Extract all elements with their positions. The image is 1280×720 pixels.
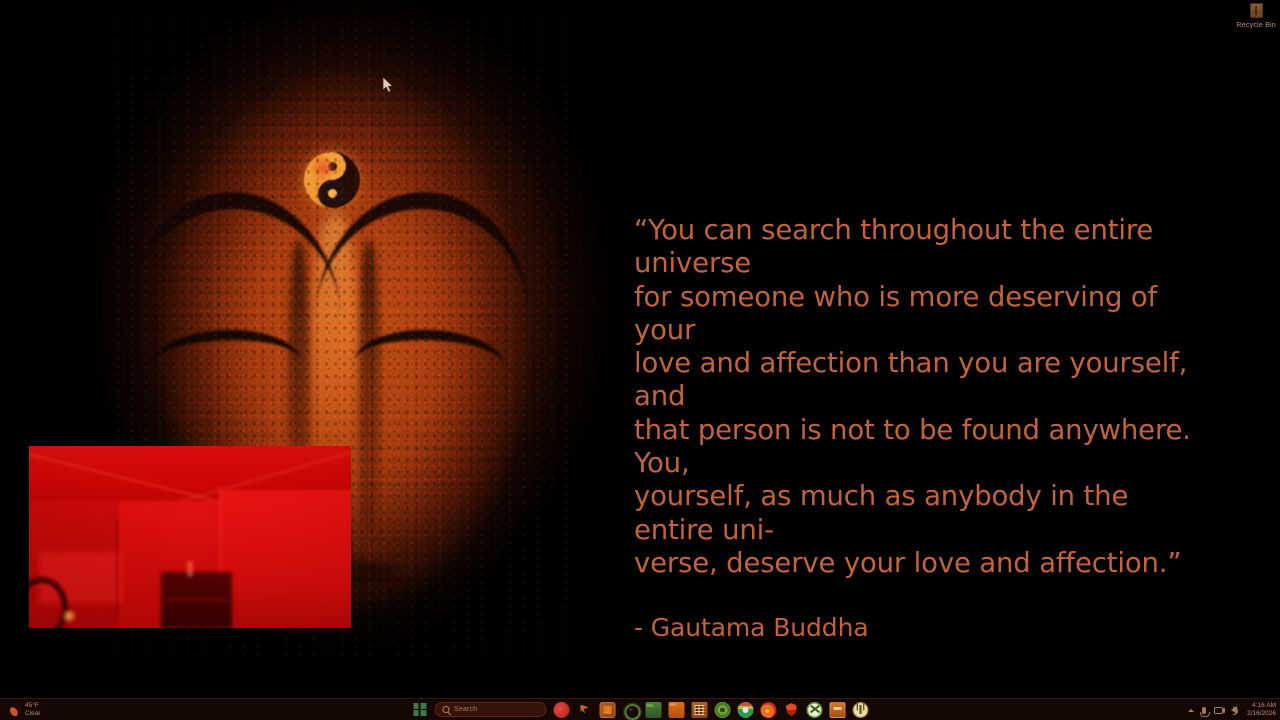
- xbox-icon: [807, 702, 823, 718]
- taskbar-app-toolbox-app[interactable]: [830, 702, 846, 718]
- taskbar-app-file-explorer[interactable]: [600, 702, 616, 718]
- taskbar-app-xbox-app[interactable]: [807, 702, 823, 718]
- folder-orange-icon: [669, 702, 685, 718]
- spreadsheet-icon: [692, 702, 708, 718]
- gear-icon: [623, 702, 639, 718]
- taskbar-app-spreadsheet[interactable]: [692, 702, 708, 718]
- crescent-moon-icon: [8, 703, 22, 717]
- microphone-icon[interactable]: [1202, 707, 1206, 714]
- file-explorer-icon: [600, 702, 616, 718]
- disc-icon: [715, 702, 731, 718]
- taskbar-app-firefox-browser[interactable]: [761, 702, 777, 718]
- recycle-bin-icon: [1250, 3, 1263, 18]
- taskbar-weather-widget[interactable]: 45°F Clear: [6, 699, 45, 720]
- taskbar: 45°F Clear Search: [0, 698, 1280, 720]
- pin-star-icon: [577, 702, 593, 718]
- quote-overlay: “You can search throughout the entire un…: [634, 214, 1194, 642]
- desktop-icon-recycle-bin[interactable]: Recycle Bin: [1230, 1, 1280, 29]
- clock-date: 2/16/2026: [1247, 710, 1276, 719]
- taskbar-app-green-folder[interactable]: [646, 702, 662, 718]
- system-tray: 4:16 AM 2/16/2026: [1188, 699, 1276, 720]
- firefox-icon: [761, 702, 777, 718]
- taskbar-clock[interactable]: 4:16 AM 2/16/2026: [1247, 702, 1276, 719]
- chrome-icon: [738, 702, 754, 718]
- webcam-overlay[interactable]: [29, 446, 351, 628]
- weather-text: 45°F Clear: [25, 702, 41, 719]
- taskbar-app-settings[interactable]: [623, 702, 639, 718]
- taskbar-app-badge-app[interactable]: [853, 702, 869, 718]
- search-input[interactable]: Search: [435, 702, 547, 717]
- start-button[interactable]: [412, 702, 428, 718]
- volume-icon[interactable]: [1231, 706, 1237, 714]
- folder-green-icon: [646, 702, 662, 718]
- taskbar-app-chrome-browser[interactable]: [738, 702, 754, 718]
- recycle-bin-label: Recycle Bin: [1230, 20, 1280, 29]
- desktop-screen: “You can search throughout the entire un…: [0, 0, 1280, 720]
- search-placeholder: Search: [454, 706, 477, 713]
- badge-icon: [853, 702, 869, 718]
- quote-author: - Gautama Buddha: [634, 613, 1194, 642]
- toolbox-icon: [830, 702, 846, 718]
- weather-temperature: 45°F: [25, 702, 41, 711]
- taskbar-app-brave-browser[interactable]: [784, 702, 800, 718]
- taskbar-app-chat-app[interactable]: [554, 702, 570, 718]
- taskbar-center-cluster: Search: [412, 699, 869, 720]
- taskbar-app-media-disc[interactable]: [715, 702, 731, 718]
- quote-text: “You can search throughout the entire un…: [634, 214, 1194, 580]
- taskbar-app-orange-folder[interactable]: [669, 702, 685, 718]
- weather-condition: Clear: [25, 710, 41, 719]
- chat-bubble-icon: [554, 702, 570, 718]
- windows-start-icon: [413, 703, 426, 716]
- chevron-up-icon[interactable]: [1188, 709, 1194, 712]
- clock-time: 4:16 AM: [1247, 702, 1276, 711]
- network-icon[interactable]: [1214, 707, 1223, 714]
- search-icon: [443, 706, 450, 713]
- webcam-soft-focus: [29, 446, 351, 628]
- brave-shield-icon: [784, 702, 800, 718]
- taskbar-app-pinned-widget[interactable]: [577, 702, 593, 718]
